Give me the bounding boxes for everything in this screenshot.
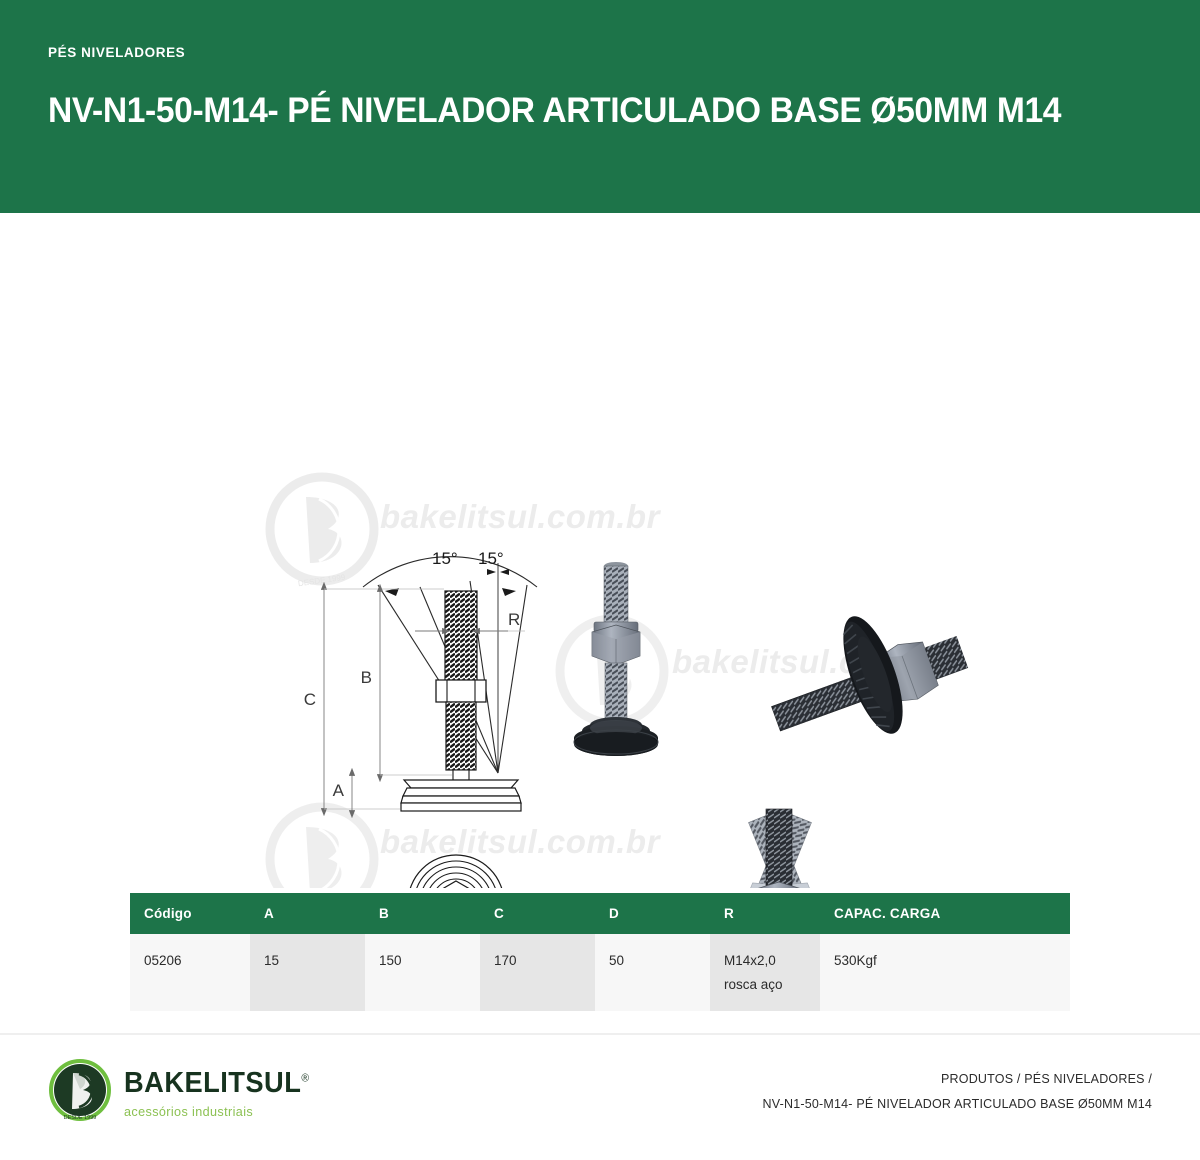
angle-label-right: 15° [478, 549, 504, 568]
logo-since-label: DESDE 1999 [64, 1115, 97, 1121]
column-header-a: A [250, 893, 365, 934]
bakelitsul-logo-icon: DESDE 1999 [48, 1059, 112, 1128]
brand-block[interactable]: DESDE 1999 BAKELITSUL® acessórios indust… [48, 1059, 321, 1128]
table-header-row: Código A B C D R CAPAC. CARGA [130, 893, 1070, 934]
table-row: 05206 15 150 170 50 M14x2,0 rosca aço 53… [130, 934, 1070, 1011]
column-header-codigo: Código [130, 893, 250, 934]
page-header: PÉS NIVELADORES NV-N1-50-M14- PÉ NIVELAD… [0, 0, 1200, 213]
product-illustrations: 15° 15° C B [0, 213, 1200, 888]
breadcrumb[interactable]: PRODUTOS / PÉS NIVELADORES / NV-N1-50-M1… [763, 1059, 1152, 1117]
brand-registered-mark: ® [301, 1072, 309, 1084]
render-leveling-foot-articulation [728, 809, 830, 888]
dimension-label-a: A [333, 781, 345, 800]
category-eyebrow: PÉS NIVELADORES [48, 46, 1152, 60]
product-figure-area: DESDE 1999 bakelitsul.com.br bakelitsul.… [0, 213, 1200, 888]
brand-name: BAKELITSUL [124, 1067, 301, 1099]
cell-r: M14x2,0 rosca aço [710, 934, 820, 1011]
column-header-d: D [595, 893, 710, 934]
render-leveling-foot-tilted [766, 609, 972, 747]
specifications-table: Código A B C D R CAPAC. CARGA 05206 15 1… [130, 893, 1070, 1011]
cell-capac-carga: 530Kgf [820, 934, 1070, 1011]
brand-tagline: acessórios industriais [124, 1105, 315, 1118]
page-title: NV-N1-50-M14- PÉ NIVELADOR ARTICULADO BA… [48, 90, 1094, 131]
page-footer: DESDE 1999 BAKELITSUL® acessórios indust… [0, 1033, 1200, 1160]
column-header-capac-carga: CAPAC. CARGA [820, 893, 1070, 934]
specifications-table-wrapper: Código A B C D R CAPAC. CARGA 05206 15 1… [130, 893, 1070, 1011]
angle-label-left: 15° [432, 549, 458, 568]
breadcrumb-line-1[interactable]: PRODUTOS / PÉS NIVELADORES / [763, 1067, 1152, 1092]
column-header-c: C [480, 893, 595, 934]
cell-d: 50 [595, 934, 710, 1011]
dimension-label-c: C [304, 690, 316, 709]
cell-codigo: 05206 [130, 934, 250, 1011]
breadcrumb-line-2: NV-N1-50-M14- PÉ NIVELADOR ARTICULADO BA… [763, 1092, 1152, 1117]
cell-c: 170 [480, 934, 595, 1011]
cell-a: 15 [250, 934, 365, 1011]
render-leveling-foot-upright [574, 562, 658, 756]
brand-wordmark: BAKELITSUL® [124, 1069, 309, 1098]
dimension-label-b: B [361, 668, 372, 687]
dimension-label-r: R [508, 610, 520, 629]
column-header-b: B [365, 893, 480, 934]
cad-side-view: 15° 15° C B [304, 549, 537, 811]
column-header-r: R [710, 893, 820, 934]
cell-b: 150 [365, 934, 480, 1011]
cad-bottom-view: D [408, 855, 504, 888]
